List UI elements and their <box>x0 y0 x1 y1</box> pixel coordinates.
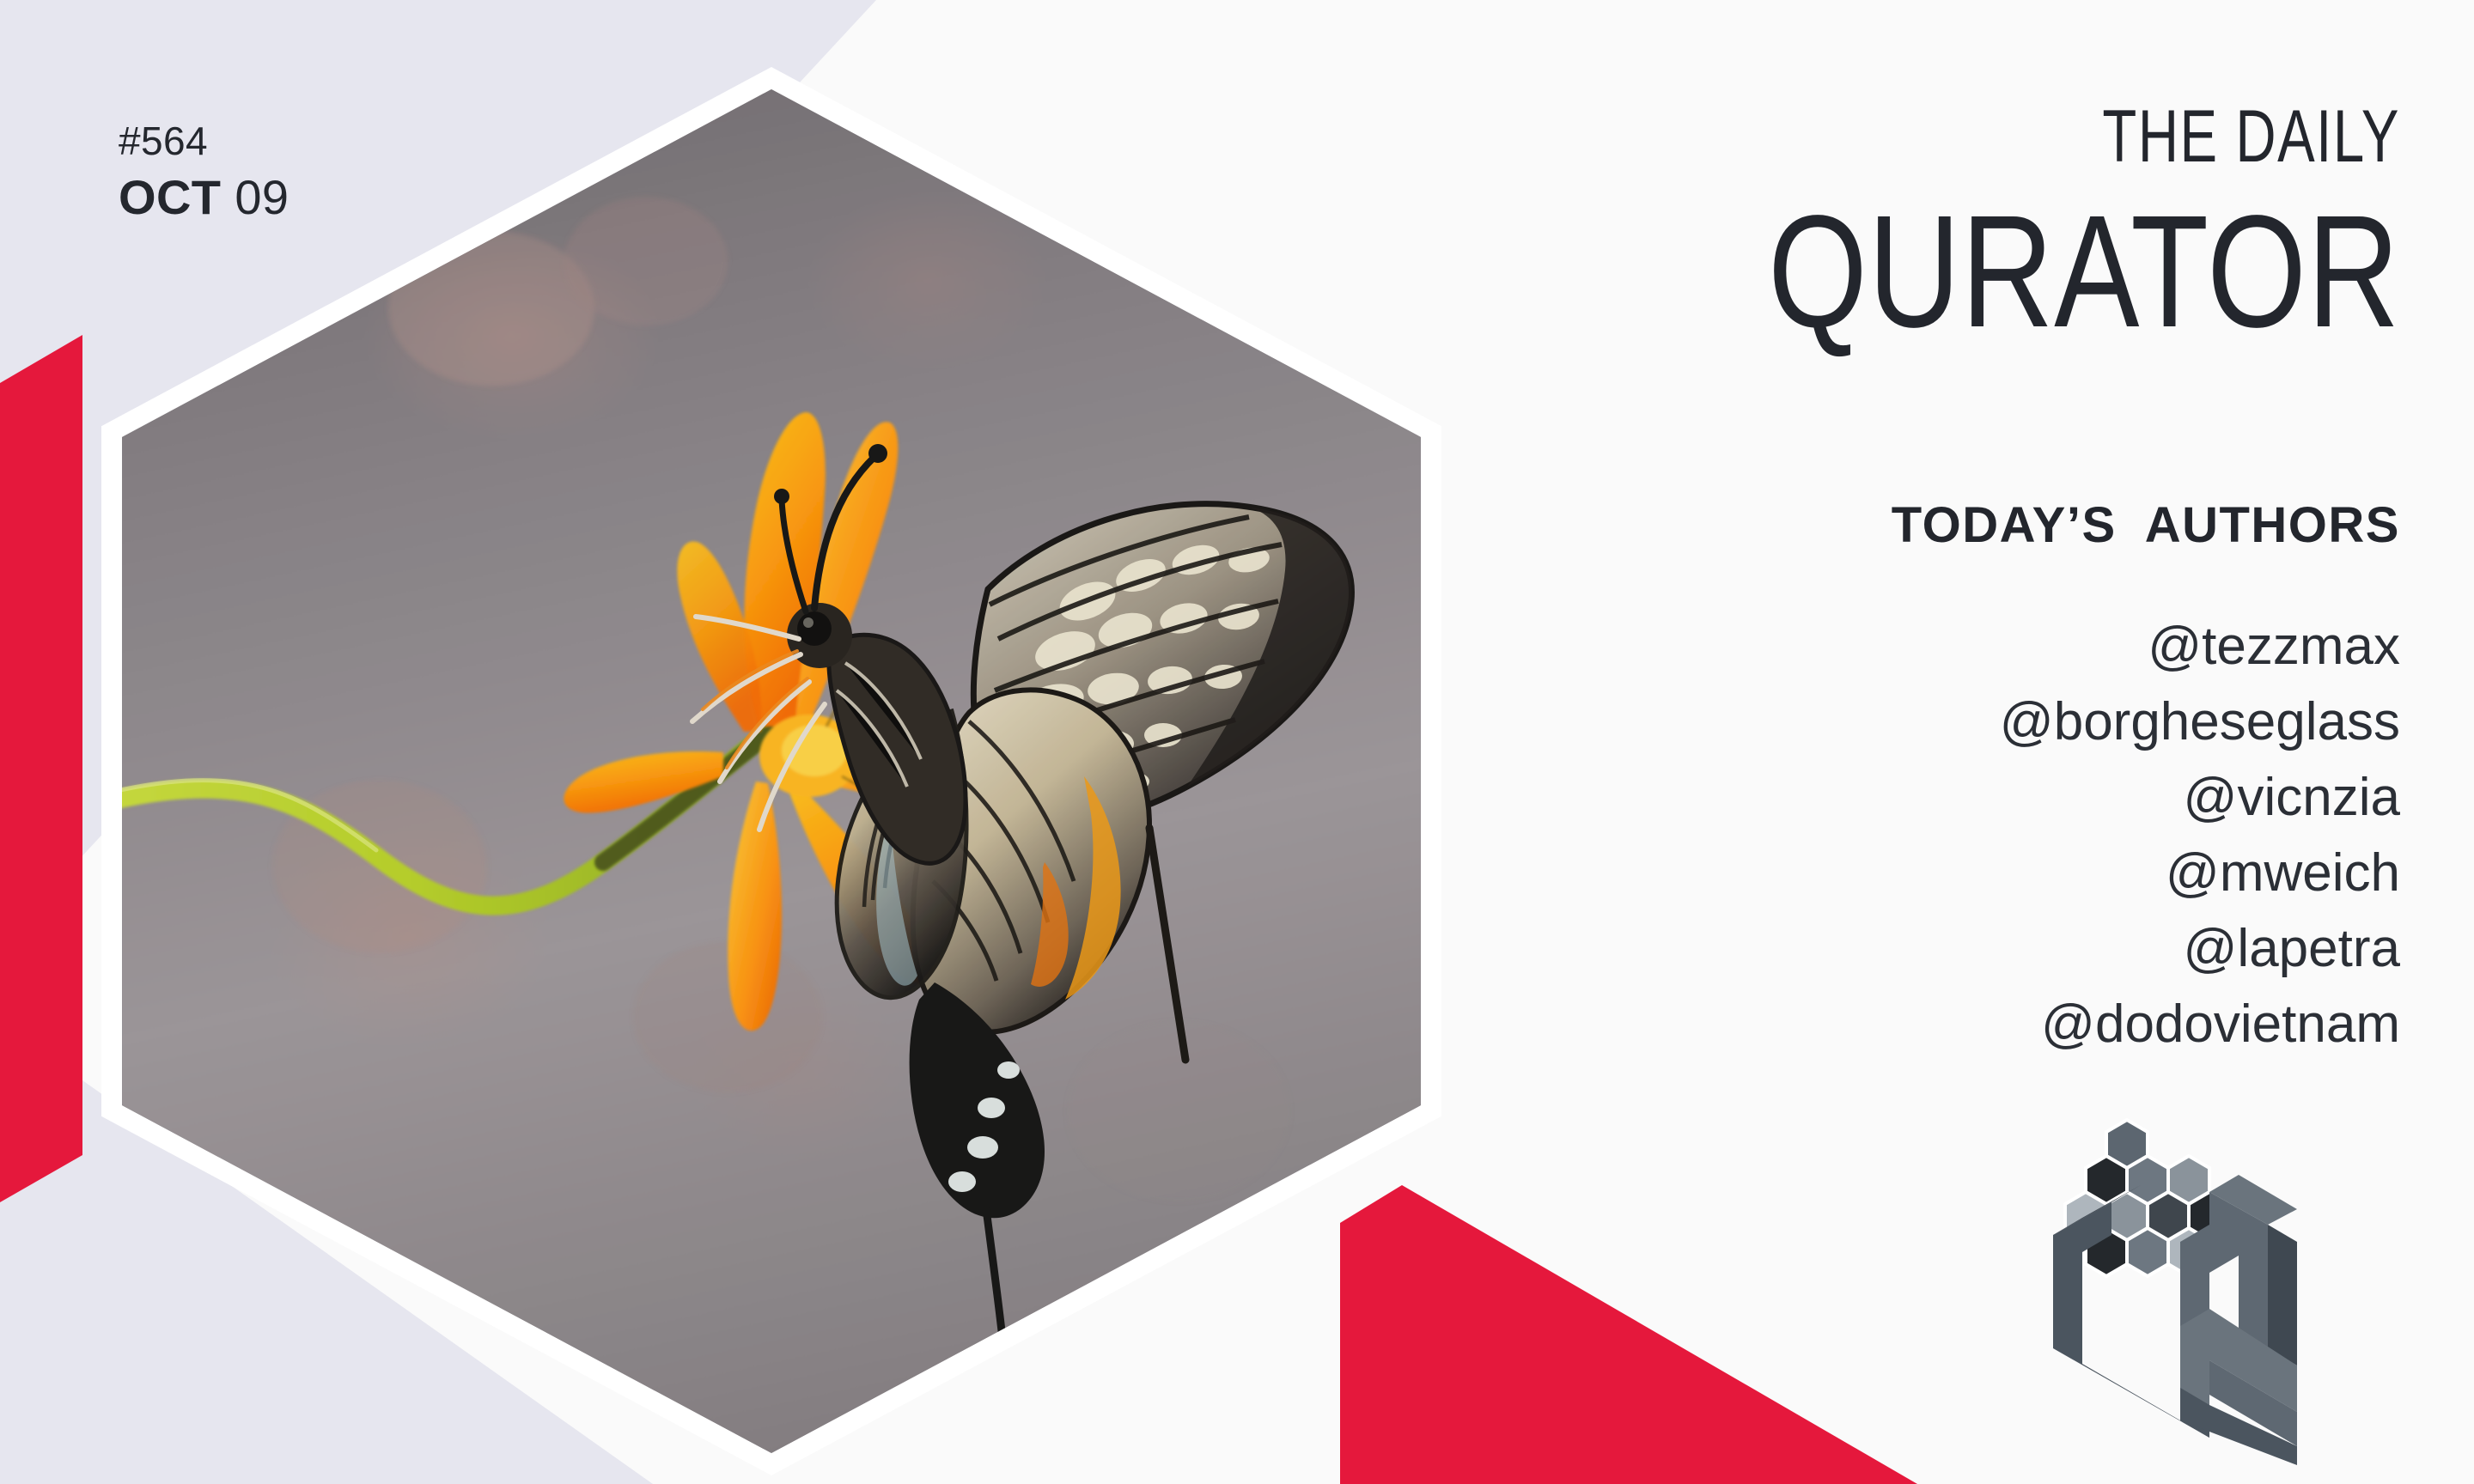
right-column: THE DAILY QURATOR TODAY’S AUTHORS @tezzm… <box>1490 0 2400 1062</box>
hexagon-photo-clip <box>122 89 1421 1453</box>
issue-meta-block: #564 OCT 09 <box>119 120 289 223</box>
masthead-line-the-daily: THE DAILY <box>1708 100 2400 173</box>
poster-canvas: #564 OCT 09 THE DAILY QURATOR TODAY’S AU… <box>0 0 2474 1484</box>
masthead-line-qurator: QURATOR <box>1672 192 2400 352</box>
issue-date-day: 09 <box>235 170 289 224</box>
authors-list: @tezzmax @borgheseglass @vicnzia @mweich… <box>1490 609 2400 1062</box>
issue-date: OCT 09 <box>119 172 289 223</box>
author-name[interactable]: @tezzmax <box>1490 609 2400 684</box>
issue-date-month: OCT <box>119 170 221 224</box>
hexagon-photo-frame <box>101 67 1441 1475</box>
author-name[interactable]: @vicnzia <box>1490 760 2400 836</box>
issue-number: #564 <box>119 120 289 163</box>
author-name[interactable]: @dodovietnam <box>1490 987 2400 1062</box>
author-name[interactable]: @lapetra <box>1490 911 2400 987</box>
qurator-logo <box>2038 1104 2330 1465</box>
todays-authors-heading: TODAY’S AUTHORS <box>1490 496 2400 554</box>
butterfly-photo-illustration <box>122 89 1421 1453</box>
author-name[interactable]: @mweich <box>1490 836 2400 911</box>
qurator-hex-q-logo-icon <box>2038 1104 2330 1465</box>
author-name[interactable]: @borgheseglass <box>1490 684 2400 760</box>
